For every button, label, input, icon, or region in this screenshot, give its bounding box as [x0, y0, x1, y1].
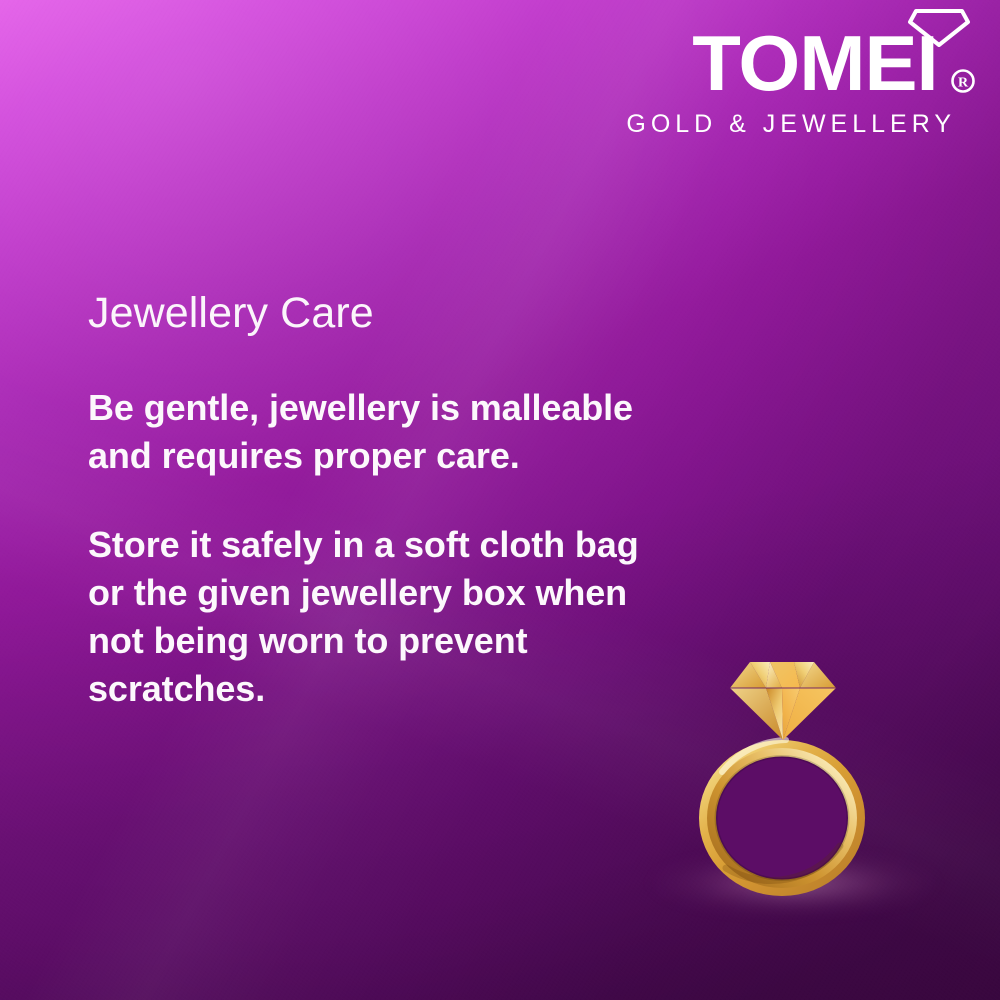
- brand-tagline: GOLD & JEWELLERY: [626, 110, 956, 138]
- svg-text:R: R: [958, 75, 969, 90]
- brand-logo: TOMEI R GOLD & JEWELLERY: [648, 6, 978, 98]
- copy-block: Jewellery Care Be gentle, jewellery is m…: [88, 288, 648, 713]
- poster-canvas: TOMEI R GOLD & JEWELLERY Jewellery Care …: [0, 0, 1000, 1000]
- brand-logo-row: TOMEI R: [648, 6, 978, 98]
- registered-trademark-icon: R: [950, 68, 976, 94]
- care-paragraph-1: Be gentle, jewellery is malleable and re…: [88, 384, 648, 480]
- care-paragraph-2: Store it safely in a soft cloth bag or t…: [88, 521, 648, 713]
- brand-wordmark: TOMEI: [693, 24, 938, 102]
- diamond-ring-illustration: [690, 630, 900, 930]
- page-title: Jewellery Care: [88, 288, 648, 338]
- ring-vector: [690, 630, 900, 930]
- gold-diamond-icon: [730, 662, 836, 740]
- gold-ring-band-icon: [699, 740, 865, 896]
